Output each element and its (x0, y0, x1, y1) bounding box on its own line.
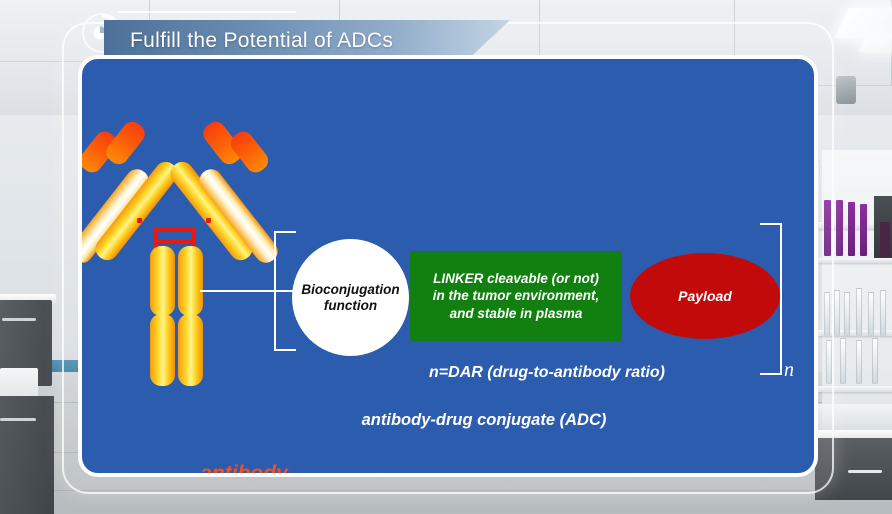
bioconjugation-label: Bioconjugation function (295, 282, 405, 314)
cabinet-handle (2, 318, 36, 321)
disulfide-dot (137, 218, 142, 223)
adc-caption: antibody-drug conjugate (ADC) (304, 411, 664, 430)
payload-label: Payload (678, 288, 732, 304)
ceiling-light (859, 38, 892, 52)
dar-caption: n=DAR (drug-to-antibody ratio) (382, 364, 712, 382)
ceiling-fixture (836, 76, 856, 104)
dark-flask (880, 222, 890, 258)
banner-accent-line (118, 11, 296, 13)
antibody-fc-left-lower (150, 314, 175, 386)
antibody-variable-tip (102, 118, 148, 168)
page-title: Fulfill the Potential of ADCs (104, 29, 393, 53)
bioconjugation-node: Bioconjugation function (292, 239, 409, 356)
antibody-label: antibody (164, 462, 324, 477)
cabinet-handle (0, 418, 36, 421)
glass-cylinder (840, 338, 846, 384)
antibody-hinge (154, 240, 196, 244)
antibody-hinge (154, 228, 196, 232)
test-tube (836, 200, 843, 256)
content-panel: antibody n Bioconjugation function LINKE… (78, 55, 818, 477)
test-tube (848, 202, 855, 256)
cabinet-left-lower (0, 396, 54, 514)
glass-cylinder (872, 338, 878, 384)
linker-label: LINKER cleavable (or not) in the tumor e… (433, 270, 600, 322)
disulfide-dot (206, 218, 211, 223)
glass-cylinder (868, 292, 874, 336)
glass-cylinder (856, 340, 862, 384)
test-tube (860, 204, 867, 256)
bracket-subscript: n (784, 359, 794, 382)
cabinet-handle (848, 470, 882, 473)
glass-cylinder (834, 290, 840, 336)
glass-cylinder (856, 288, 862, 336)
antibody-fc-right-lower (178, 314, 203, 386)
antibody-fc-left-upper (150, 246, 175, 316)
antibody-fc-right-upper (178, 246, 203, 316)
glass-cylinder (880, 290, 886, 336)
payload-node: Payload (630, 253, 780, 339)
linker-node: LINKER cleavable (or not) in the tumor e… (410, 251, 622, 341)
glass-cylinder (844, 292, 850, 336)
